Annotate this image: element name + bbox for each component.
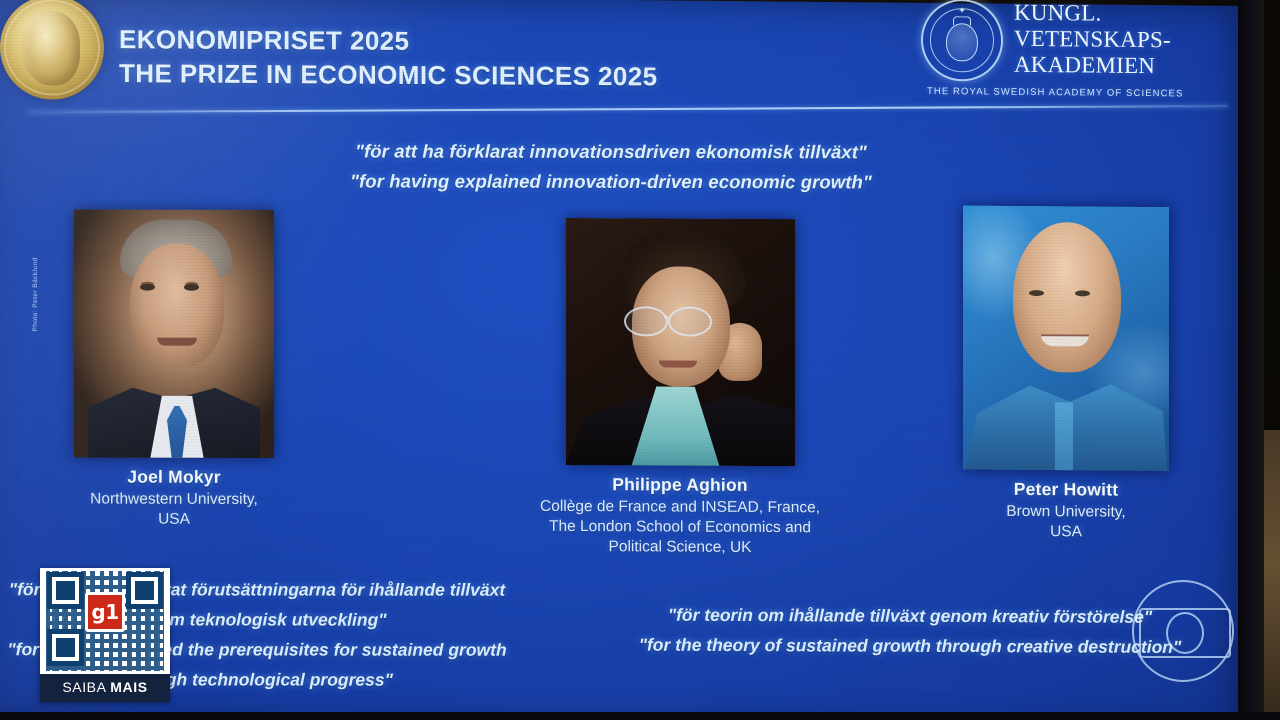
prize-motivation: "för att ha förklarat innovationsdriven …	[0, 136, 1226, 198]
laureate-name-joel-mokyr: Joel Mokyr	[24, 466, 324, 488]
portrait-image	[566, 218, 795, 466]
laureate-card-joel-mokyr: Photo: Peter Bäcklund Joel Mokyr Northwe…	[24, 209, 324, 529]
laureate-affiliation-peter-howitt: Brown University, USA	[896, 501, 1236, 543]
screen-frame-bottom	[0, 712, 1280, 720]
portrait-eye-left	[140, 284, 155, 291]
header-divider	[28, 105, 1228, 113]
screen-frame-right	[1238, 0, 1264, 720]
qr-code[interactable]: g1	[40, 568, 170, 674]
academy-name-line-3: AKADEMIEN	[1014, 51, 1171, 78]
portrait-face	[130, 244, 224, 368]
laureate-portrait-philippe-aghion	[566, 218, 795, 466]
portrait-mouth	[157, 338, 197, 346]
saiba-mais-overlay[interactable]: g1 SAIBA MAIS	[40, 568, 170, 702]
seal-crest-icon	[946, 23, 978, 61]
photo-credit-joel-mokyr: Photo: Peter Bäcklund	[32, 257, 39, 357]
laureate-name-peter-howitt: Peter Howitt	[896, 478, 1236, 501]
portrait-image	[963, 206, 1169, 471]
saiba-mais-label: SAIBA MAIS	[40, 674, 170, 702]
broadcast-frame: EKONOMIPRISET 2025 THE PRIZE IN ECONOMIC…	[0, 0, 1280, 720]
portrait-face	[1013, 222, 1121, 373]
portrait-eye-right	[1075, 290, 1090, 296]
globo-core	[1166, 612, 1204, 654]
portrait-eye-right	[184, 284, 199, 291]
seal-star-icon: ✦	[958, 6, 966, 15]
portrait-eyeglass-bridge	[664, 316, 670, 318]
qr-finder-bottom-left	[47, 629, 84, 666]
portrait-eye-left	[1029, 290, 1044, 296]
academy-logo-row: ✦ KUNGL. VETENSKAPS- AKADEMIEN	[921, 0, 1171, 83]
royal-academy-seal-icon: ✦	[921, 0, 1003, 82]
laureate-portrait-peter-howitt	[963, 206, 1169, 471]
academy-name-line-2: VETENSKAPS-	[1014, 26, 1171, 53]
portrait-mouth	[659, 360, 697, 367]
portrait-mouth	[1041, 334, 1089, 346]
page-title: EKONOMIPRISET 2025 THE PRIZE IN ECONOMIC…	[119, 22, 657, 94]
laureate-card-philippe-aghion: Philippe Aghion Collège de France and IN…	[470, 217, 890, 558]
laureate-affiliation-joel-mokyr: Northwestern University, USA	[24, 489, 324, 529]
laureate-affiliation-philippe-aghion: Collège de France and INSEAD, France, Th…	[470, 496, 890, 558]
nobel-medal-icon	[0, 0, 104, 100]
academy-subtitle: THE ROYAL SWEDISH ACADEMY OF SCIENCES	[927, 86, 1183, 99]
motivation-swedish: "för att ha förklarat innovationsdriven …	[0, 136, 1226, 168]
academy-name-line-1: KUNGL.	[1014, 0, 1171, 27]
laureate-card-peter-howitt: Peter Howitt Brown University, USA	[896, 205, 1236, 543]
saiba-text: SAIBA	[62, 679, 110, 695]
globo-logo-icon	[1132, 580, 1234, 682]
qr-finder-top-right	[126, 572, 163, 609]
mais-text: MAIS	[110, 679, 147, 695]
g1-logo: g1	[85, 592, 125, 632]
qr-finder-top-left	[47, 572, 84, 609]
title-swedish: EKONOMIPRISET 2025	[119, 24, 409, 56]
portrait-eyeglass-left	[624, 306, 668, 336]
portrait-eyeglass-right	[668, 307, 712, 337]
academy-name: KUNGL. VETENSKAPS- AKADEMIEN	[1014, 0, 1171, 79]
academy-logo: ✦ KUNGL. VETENSKAPS- AKADEMIEN THE ROYAL…	[921, 0, 1201, 100]
title-english: THE PRIZE IN ECONOMIC SCIENCES 2025	[119, 56, 657, 94]
portrait-placket	[1055, 402, 1073, 470]
presentation-screen: EKONOMIPRISET 2025 THE PRIZE IN ECONOMIC…	[0, 0, 1249, 720]
medal-profile	[22, 11, 80, 86]
laureate-portrait-joel-mokyr	[74, 209, 274, 458]
laureates-row: Photo: Peter Bäcklund Joel Mokyr Northwe…	[0, 190, 1231, 602]
laureate-name-philippe-aghion: Philippe Aghion	[470, 473, 890, 496]
portrait-image	[74, 209, 274, 458]
